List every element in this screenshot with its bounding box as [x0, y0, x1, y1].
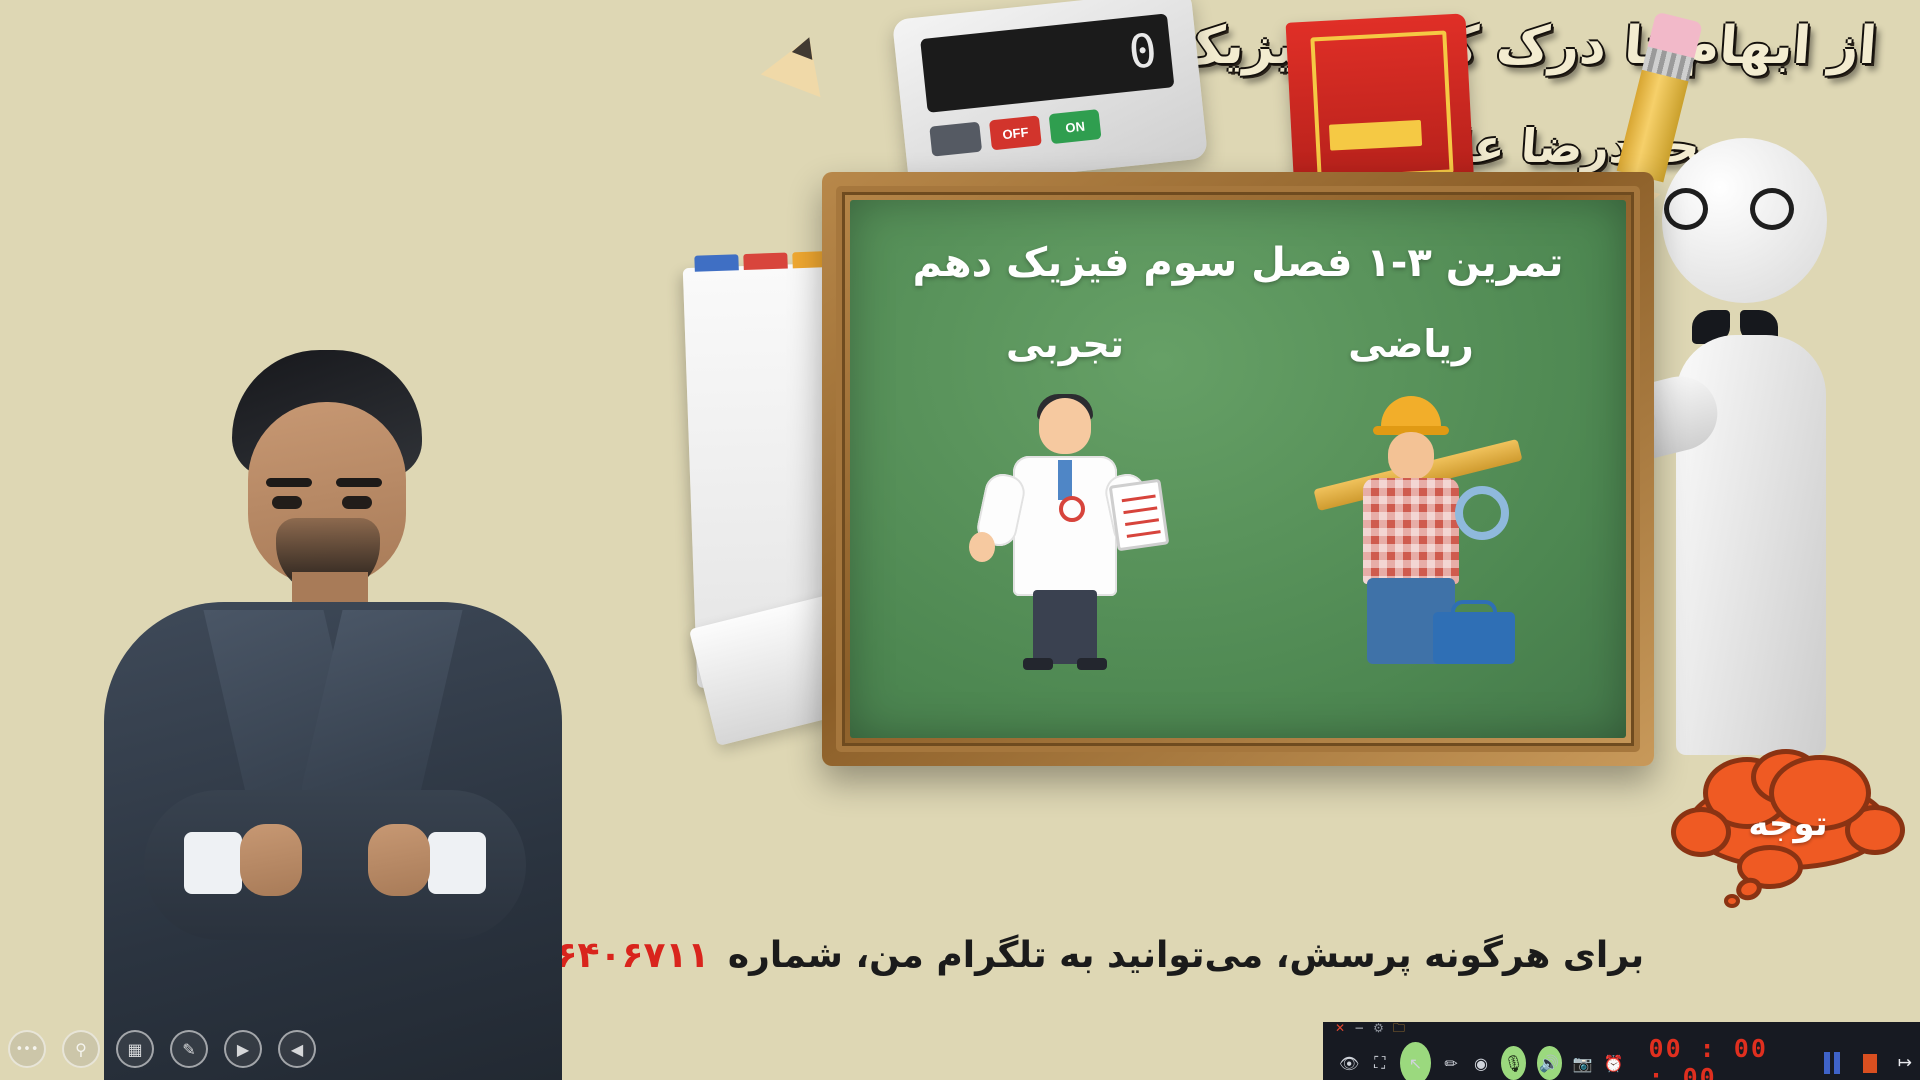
bubble-tail-small [1724, 894, 1740, 908]
engineer-illustration [1261, 390, 1561, 670]
calculator-keys: ON OFF [929, 109, 1101, 157]
column-label-tajrobi: تجربی [915, 322, 1215, 366]
previous-arrow-icon: ◀ [291, 1040, 303, 1059]
settings-gear-icon[interactable]: ⚙ [1373, 1022, 1384, 1034]
screen-recorder-toolbar[interactable]: ✕ − ⚙ 🗀 👁 ⛶ ↖ ✏ ◉ 🎙 🔊 📷 ⏰ 00 : 00 : 00 ↦ [1323, 1022, 1920, 1080]
calculator-screen: 0 [920, 13, 1174, 113]
next-slide-button[interactable]: ▶ [224, 1030, 262, 1068]
footer-text-before: برای هرگونه پرسش، می‌توانید به تلگرام من… [728, 935, 1644, 976]
doctor-head [1039, 398, 1091, 454]
engineer-hose [1455, 486, 1509, 540]
screenshot-camera-icon[interactable]: 📷 [1573, 1050, 1593, 1076]
doctor-tie [1058, 460, 1072, 500]
webcam-icon[interactable]: ◉ [1472, 1050, 1491, 1076]
minimize-icon[interactable]: − [1354, 1022, 1364, 1034]
clipboard-icon [1109, 479, 1170, 552]
presentation-slide: از ابهام تا درک کامل فیزیک محمدرضا علی پ… [0, 0, 1920, 1080]
magnifier-icon: ⚲ [75, 1040, 87, 1059]
recorder-window-buttons[interactable]: ✕ − ⚙ 🗀 [1323, 1022, 1920, 1034]
slideshow-controls[interactable]: ◀ ▶ ✎ ▦ ⚲ ••• [8, 1030, 316, 1068]
shirt-cuff-left [184, 832, 242, 894]
attention-callout: توجه [1668, 778, 1888, 908]
hard-hat-icon [1381, 396, 1441, 430]
attention-bubble-text: توجه [1748, 804, 1827, 844]
close-icon[interactable]: ✕ [1335, 1022, 1345, 1034]
recording-timer: 00 : 00 : 00 [1649, 1034, 1797, 1080]
pen-tool-button[interactable]: ✎ [170, 1030, 208, 1068]
presenter-hand-left [240, 824, 302, 896]
timer-clock-icon[interactable]: ⏰ [1604, 1050, 1624, 1076]
fullscreen-region-icon[interactable]: ⛶ [1370, 1050, 1389, 1076]
slide-grid-button[interactable]: ▦ [116, 1030, 154, 1068]
presenter-eye-left [272, 496, 302, 509]
calculator-off-key: OFF [989, 115, 1042, 150]
column-riyazi: ریاضی [1261, 322, 1561, 670]
attention-bubble-shape: توجه [1688, 778, 1888, 870]
doctor-shoe-left [1023, 658, 1053, 670]
shirt-cuff-right [428, 832, 486, 894]
grid-icon: ▦ [127, 1040, 142, 1059]
red-book-border [1310, 30, 1453, 180]
engineer-shirt [1363, 478, 1459, 584]
cursor-capture-icon[interactable]: ↖ [1400, 1042, 1430, 1080]
presenter-brow-right [336, 478, 382, 487]
microphone-icon[interactable]: 🎙 [1501, 1046, 1526, 1080]
thumbs-up-icon [969, 532, 995, 562]
calculator-decoration: 0 ON OFF [892, 0, 1208, 189]
previous-slide-button[interactable]: ◀ [278, 1030, 316, 1068]
page-title: از ابهام تا درک کامل فیزیک [1152, 14, 1897, 79]
pencil-body [699, 69, 823, 258]
stethoscope-icon [1059, 496, 1085, 522]
blackboard-surface: تمرین ۳-۱ فصل سوم فیزیک دهم ریاضی [850, 200, 1626, 738]
presenter-photo [80, 350, 600, 1080]
glasses-icon [1664, 188, 1794, 230]
next-arrow-icon: ▶ [237, 1040, 249, 1059]
collapse-toolbar-icon[interactable]: ↦ [1898, 1053, 1912, 1073]
doctor-illustration [915, 390, 1215, 670]
stop-recording-button[interactable] [1863, 1054, 1877, 1073]
doctor-legs [1033, 590, 1097, 664]
red-book-decoration [1286, 13, 1475, 197]
pencil-annotate-icon[interactable]: ✏ [1442, 1050, 1461, 1076]
zoom-button[interactable]: ⚲ [62, 1030, 100, 1068]
show-hide-eye-icon[interactable]: 👁 [1339, 1050, 1359, 1076]
presenter-folded-arms [144, 790, 526, 940]
column-label-riyazi: ریاضی [1261, 322, 1561, 366]
blackboard-heading: تمرین ۳-۱ فصل سوم فیزیک دهم [850, 240, 1626, 286]
open-folder-icon[interactable]: 🗀 [1393, 1022, 1405, 1034]
recorder-toolbar-row[interactable]: 👁 ⛶ ↖ ✏ ◉ 🎙 🔊 📷 ⏰ 00 : 00 : 00 ↦ [1323, 1034, 1920, 1080]
toolbox-icon [1433, 612, 1515, 664]
calculator-on-key: ON [1049, 109, 1102, 144]
red-book-band [1329, 120, 1422, 151]
engineer-head [1388, 432, 1434, 480]
pen-icon: ✎ [182, 1040, 195, 1059]
blackboard-columns: ریاضی تجربی [850, 322, 1626, 670]
calculator-display-value: 0 [1126, 23, 1159, 80]
column-tajrobi: تجربی [915, 322, 1215, 670]
ellipsis-icon: ••• [16, 1042, 39, 1057]
pause-recording-button[interactable] [1824, 1052, 1840, 1074]
presenter-hand-right [368, 824, 430, 896]
presenter-eye-right [342, 496, 372, 509]
doctor-shoe-right [1077, 658, 1107, 670]
more-options-button[interactable]: ••• [8, 1030, 46, 1068]
calculator-blank-key [929, 122, 982, 157]
blackboard: تمرین ۳-۱ فصل سوم فیزیک دهم ریاضی [822, 172, 1654, 766]
notebook-tabs [694, 251, 836, 272]
speaker-audio-icon[interactable]: 🔊 [1537, 1046, 1562, 1080]
presenter-brow-left [266, 478, 312, 487]
